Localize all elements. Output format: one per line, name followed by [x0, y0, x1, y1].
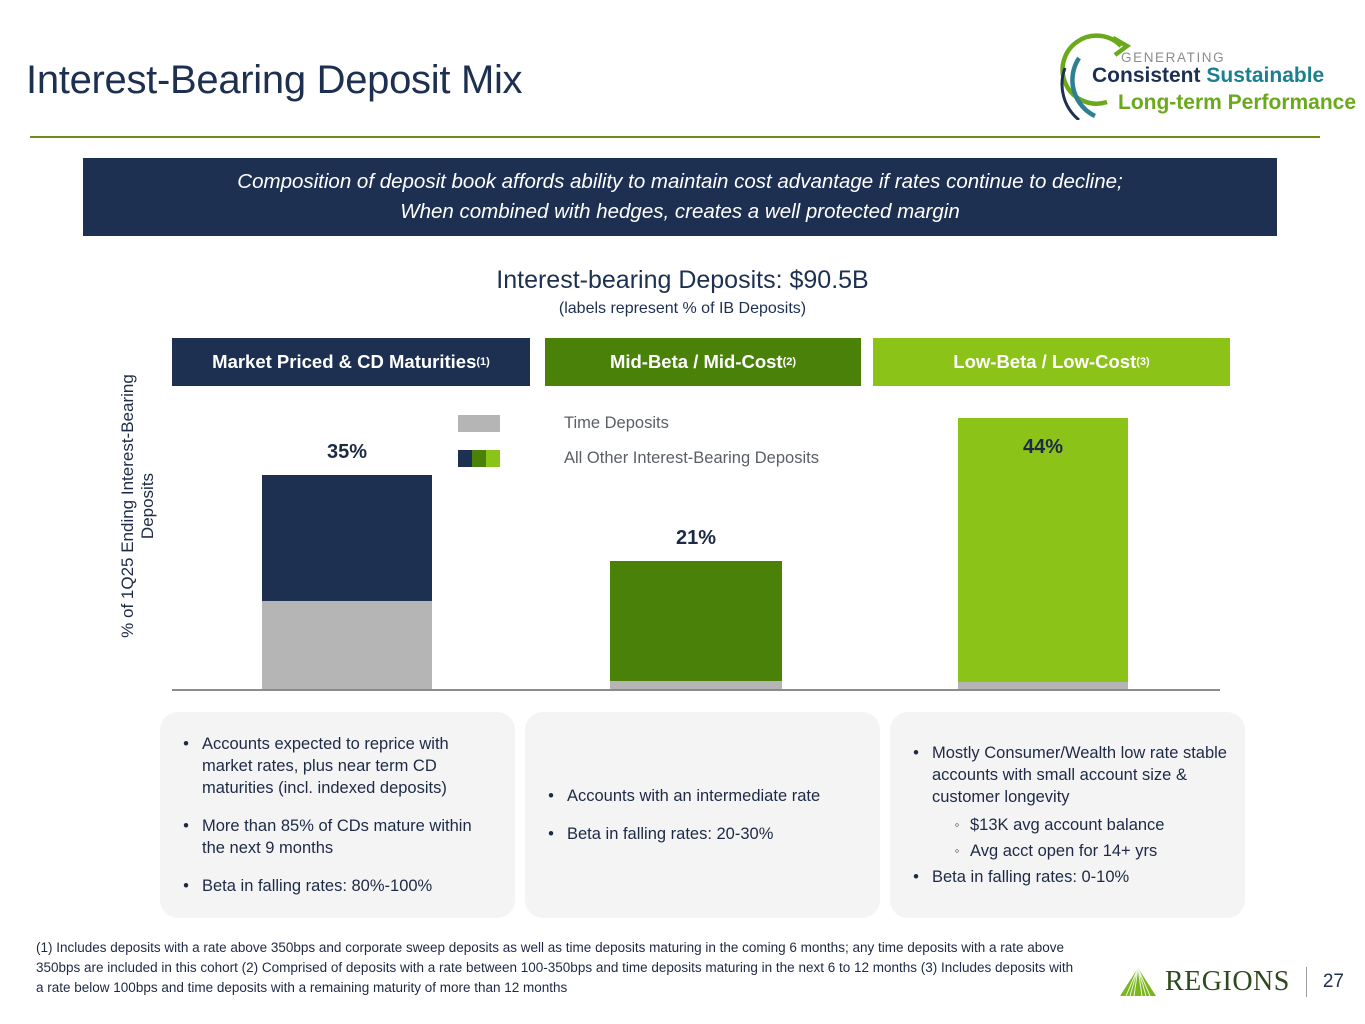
- regions-brand-logo: REGIONS 27: [1118, 966, 1344, 998]
- list-item: • Beta in falling rates: 0-10%: [900, 866, 1229, 888]
- list-item: • Mostly Consumer/Wealth low rate stable…: [900, 742, 1229, 808]
- chart-baseline: [172, 689, 1220, 691]
- list-item-text: Beta in falling rates: 0-10%: [932, 866, 1129, 888]
- list-item-sub: ◦ $13K avg account balance: [944, 814, 1229, 836]
- bar-value-label: 35%: [262, 441, 432, 464]
- list-item-text: Beta in falling rates: 80%-100%: [202, 875, 432, 897]
- bar-market-priced[interactable]: 35%: [262, 475, 432, 689]
- sub-bullet-marker-icon: ◦: [944, 814, 970, 836]
- bar-value-label: 44%: [958, 436, 1128, 459]
- footnotes: (1) Includes deposits with a rate above …: [36, 938, 1076, 998]
- list-item-sub: ◦ Avg acct open for 14+ yrs: [944, 840, 1229, 862]
- regions-wordmark: REGIONS: [1165, 966, 1290, 998]
- list-item-text: Beta in falling rates: 20-30%: [567, 823, 773, 845]
- bullet-marker-icon: •: [170, 815, 202, 859]
- sub-bullet-marker-icon: ◦: [944, 840, 970, 862]
- list-item-text: More than 85% of CDs mature within the n…: [202, 815, 499, 859]
- bar-mid-beta[interactable]: 21%: [610, 561, 782, 689]
- bar-value-label: 21%: [610, 527, 782, 550]
- bar-chart-plot: 35% 21% 44%: [0, 0, 1365, 700]
- bullet-marker-icon: •: [900, 866, 932, 888]
- bullet-marker-icon: •: [170, 875, 202, 897]
- list-item: • Beta in falling rates: 20-30%: [535, 823, 864, 845]
- detail-box-mid-beta: • Accounts with an intermediate rate • B…: [525, 712, 880, 918]
- bullet-marker-icon: •: [535, 823, 567, 845]
- list-item: • More than 85% of CDs mature within the…: [170, 815, 499, 859]
- detail-box-market-priced: • Accounts expected to reprice with mark…: [160, 712, 515, 918]
- list-item-text: $13K avg account balance: [970, 814, 1164, 836]
- bar-segment-other-ib: [262, 475, 432, 601]
- bar-low-beta[interactable]: 44%: [958, 418, 1128, 689]
- bullet-marker-icon: •: [170, 733, 202, 799]
- list-item-text: Accounts expected to reprice with market…: [202, 733, 499, 799]
- regions-pyramid-icon: [1118, 966, 1158, 998]
- detail-box-low-beta: • Mostly Consumer/Wealth low rate stable…: [890, 712, 1245, 918]
- list-item-text: Avg acct open for 14+ yrs: [970, 840, 1157, 862]
- bullet-marker-icon: •: [900, 742, 932, 808]
- list-item: • Beta in falling rates: 80%-100%: [170, 875, 499, 897]
- list-item: • Accounts with an intermediate rate: [535, 785, 864, 807]
- bar-segment-time-deposits: [958, 682, 1128, 689]
- list-item-text: Accounts with an intermediate rate: [567, 785, 820, 807]
- logo-divider: [1306, 967, 1307, 997]
- page-number: 27: [1323, 971, 1344, 993]
- list-item: • Accounts expected to reprice with mark…: [170, 733, 499, 799]
- bullet-marker-icon: •: [535, 785, 567, 807]
- bar-segment-time-deposits: [262, 601, 432, 689]
- list-item-text: Mostly Consumer/Wealth low rate stable a…: [932, 742, 1229, 808]
- bar-segment-time-deposits: [610, 681, 782, 689]
- bar-segment-other-ib: [610, 561, 782, 681]
